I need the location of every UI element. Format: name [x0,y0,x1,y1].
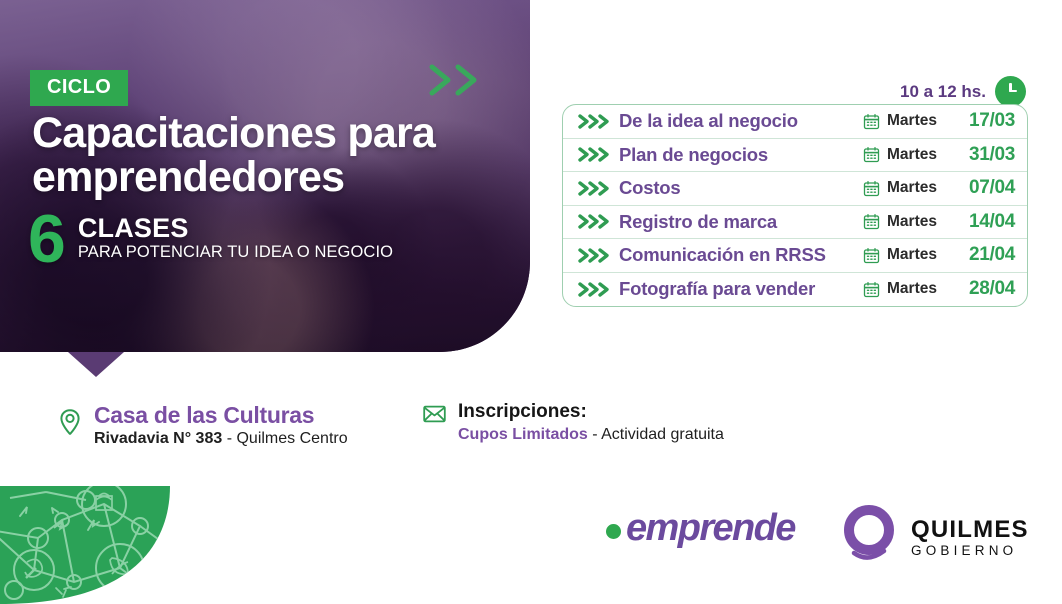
calendar-icon [863,213,880,230]
page-title-line-2: emprendedores [32,156,492,200]
course-date: 14/04 [949,211,1015,233]
course-day: Martes [887,146,949,164]
class-count-text: CLASES PARA POTENCIAR TU IDEA O NEGOCIO [78,212,393,262]
course-date: 21/04 [949,244,1015,266]
double-chevron-icon [577,180,611,197]
table-row[interactable]: Fotografía para vender Martes 28/04 [563,273,1027,307]
inscriptions-title: Inscripciones: [458,400,724,424]
quilmes-subtitle: GOBIERNO [911,542,1029,559]
table-row[interactable]: Plan de negocios Martes 31/03 [563,139,1027,173]
calendar-icon [863,113,880,130]
emprende-logo: emprende [606,508,795,548]
double-chevron-icon [577,146,611,163]
venue-address: Rivadavia N° 383 - Quilmes Centro [94,428,348,449]
venue-separator: - [222,430,236,447]
inscriptions-highlight: Cupos Limitados [458,426,588,443]
venue-area: Quilmes Centro [236,430,347,447]
decorative-network-pattern [0,486,252,604]
course-title: Registro de marca [619,211,863,233]
page-title: Capacitaciones para emprendedores [32,112,492,200]
green-dot-icon [606,524,621,539]
double-chevron-icon [577,113,611,130]
class-count-block: 6 CLASES PARA POTENCIAR TU IDEA O NEGOCI… [28,212,393,266]
quilmes-q-icon [840,503,898,570]
inscriptions-separator: - [588,426,601,443]
hero-arrow-down-icon [68,352,124,377]
course-title: Costos [619,177,863,199]
envelope-icon [423,405,446,428]
venue-name: Casa de las Culturas [94,402,348,428]
table-row[interactable]: Registro de marca Martes 14/04 [563,206,1027,240]
calendar-icon [863,146,880,163]
course-title: De la idea al negocio [619,110,863,132]
course-date: 31/03 [949,144,1015,166]
course-day: Martes [887,213,949,231]
map-pin-icon [58,408,82,441]
hero-banner: CICLO Capacitaciones para emprendedores … [0,0,530,352]
course-title: Comunicación en RRSS [619,244,863,266]
course-day: Martes [887,112,949,130]
course-date: 07/04 [949,177,1015,199]
course-day: Martes [887,280,949,298]
quilmes-logo: QUILMES GOBIERNO [840,503,1029,570]
class-count-label: CLASES [78,214,393,242]
schedule-hours-label: 10 a 12 hs. [900,82,986,102]
double-chevron-icon [577,213,611,230]
calendar-icon [863,281,880,298]
inscriptions-block: Inscripciones: Cupos Limitados - Activid… [423,400,724,446]
page-title-line-1: Capacitaciones para [32,112,492,156]
venue-text: Casa de las Culturas Rivadavia N° 383 - … [94,402,348,449]
course-title: Fotografía para vender [619,278,863,300]
table-row[interactable]: De la idea al negocio Martes 17/03 [563,105,1027,139]
course-title: Plan de negocios [619,144,863,166]
schedule-card: De la idea al negocio Martes 17/03 Plan … [562,104,1028,307]
inscriptions-rest: Actividad gratuita [601,426,724,443]
double-chevron-icon [426,60,488,105]
inscriptions-detail: Cupos Limitados - Actividad gratuita [458,424,724,446]
quilmes-wordmark: QUILMES GOBIERNO [911,515,1029,559]
class-tagline: PARA POTENCIAR TU IDEA O NEGOCIO [78,242,393,262]
table-row[interactable]: Costos Martes 07/04 [563,172,1027,206]
calendar-icon [863,180,880,197]
hero-content: CICLO Capacitaciones para emprendedores … [0,0,530,352]
course-day: Martes [887,246,949,264]
course-date: 28/04 [949,278,1015,300]
venue-block: Casa de las Culturas Rivadavia N° 383 - … [58,402,348,449]
emprende-wordmark: emprende [626,508,795,548]
schedule-hours: 10 a 12 hs. [900,76,1026,107]
course-date: 17/03 [949,110,1015,132]
table-row[interactable]: Comunicación en RRSS Martes 21/04 [563,239,1027,273]
clock-icon [995,76,1026,107]
calendar-icon [863,247,880,264]
flyer-canvas: CICLO Capacitaciones para emprendedores … [0,0,1062,604]
quilmes-name: QUILMES [911,517,1029,542]
ciclo-badge: CICLO [30,70,128,106]
double-chevron-icon [577,247,611,264]
venue-street: Rivadavia N° 383 [94,430,222,447]
class-count-number: 6 [28,212,64,266]
double-chevron-icon [577,281,611,298]
course-day: Martes [887,179,949,197]
inscriptions-text: Inscripciones: Cupos Limitados - Activid… [458,400,724,446]
